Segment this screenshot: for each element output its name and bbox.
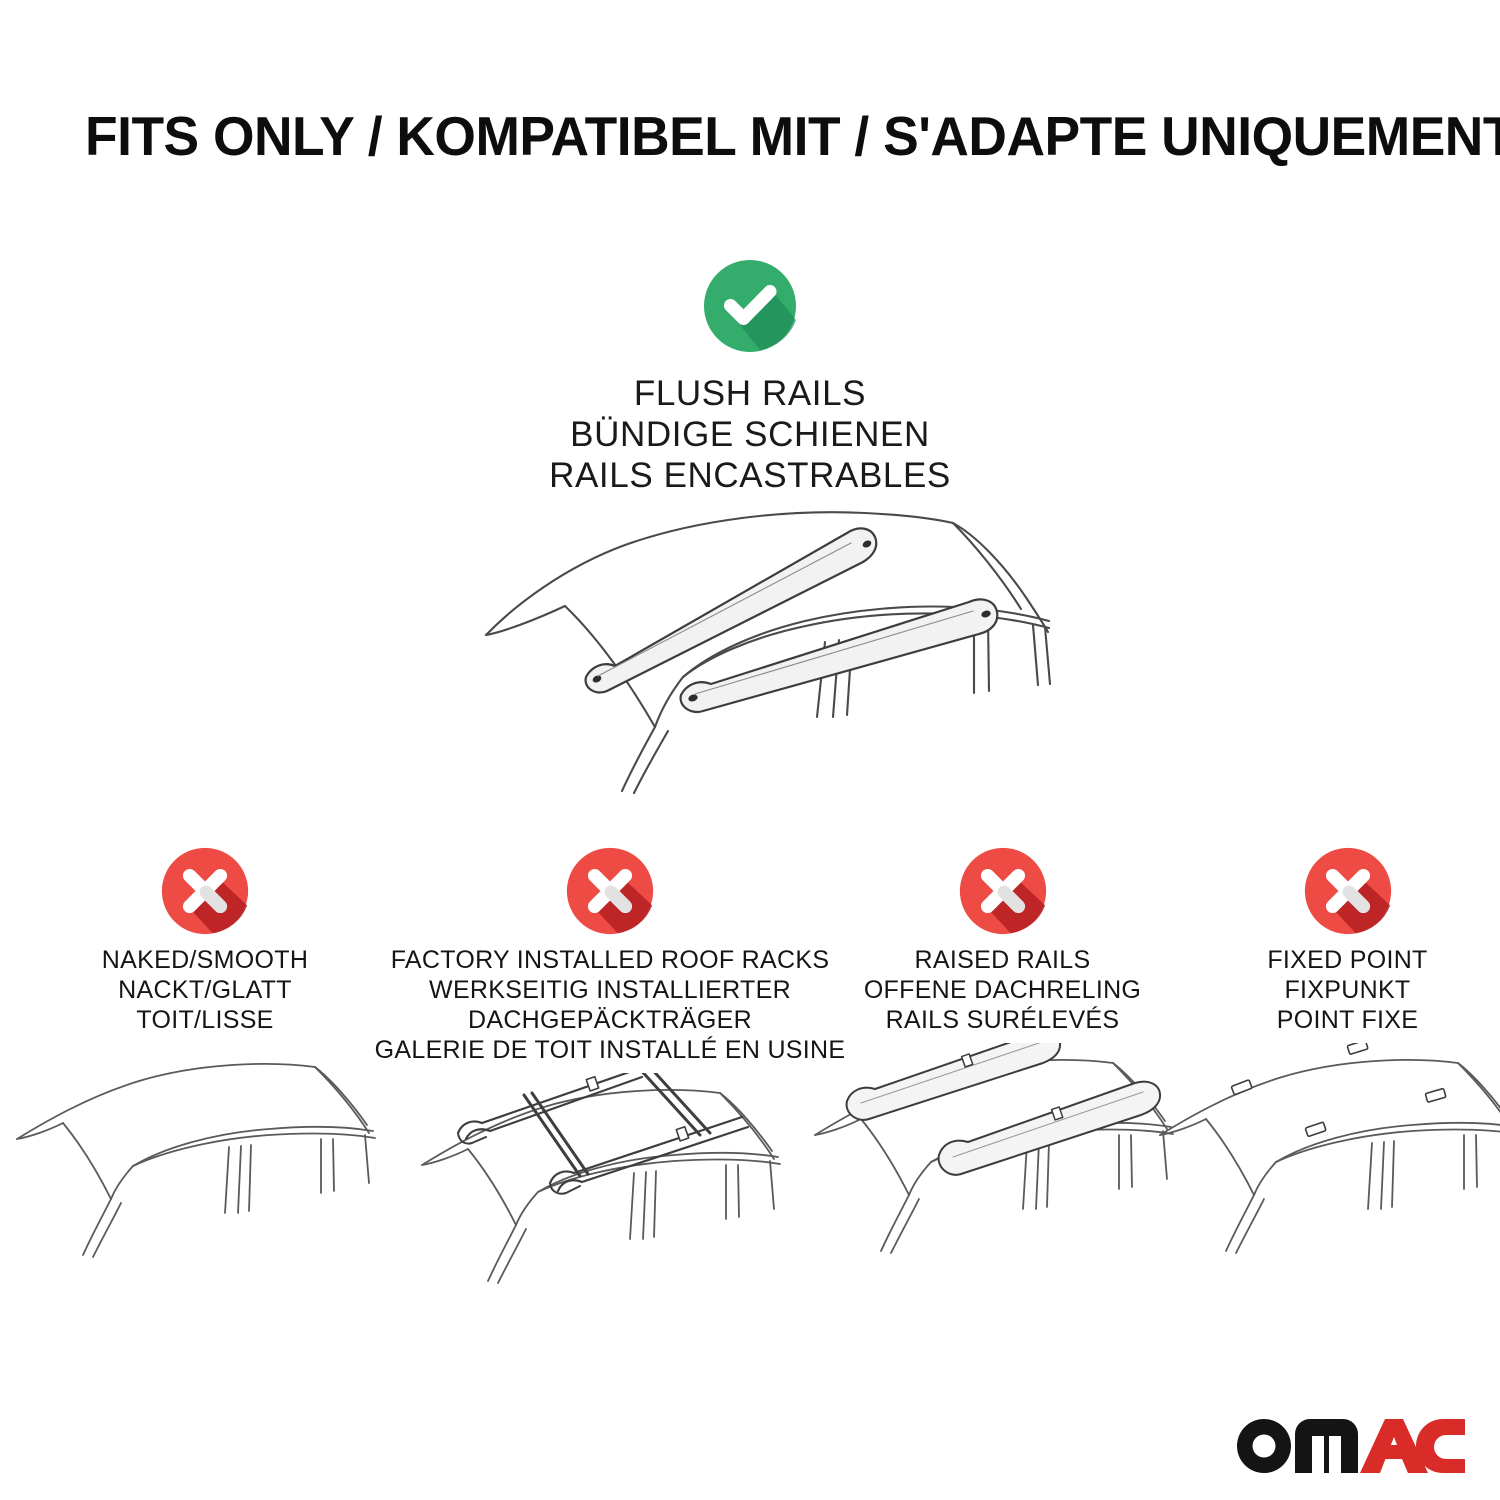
incompatible-item-raised-rails: RAISED RAILS OFFENE DACHRELING RAILS SUR… bbox=[810, 845, 1195, 1303]
label-line-2: WERKSEITIG INSTALLIERTER bbox=[375, 975, 846, 1005]
label-line-1: FACTORY INSTALLED ROOF RACKS bbox=[375, 945, 846, 975]
label-line-2: OFFENE DACHRELING bbox=[864, 975, 1141, 1005]
incompatible-item-fixed-point: FIXED POINT FIXPUNKT POINT FIXE bbox=[1195, 845, 1500, 1303]
car-roof-raised-rails-illustration bbox=[813, 1043, 1193, 1273]
label-line-3: TOIT/LISSE bbox=[102, 1005, 308, 1035]
compatible-label-line-1: FLUSH RAILS bbox=[0, 373, 1500, 414]
label-line-3: DACHGEPÄCKTRÄGER bbox=[375, 1005, 846, 1035]
label-line-1: RAISED RAILS bbox=[864, 945, 1141, 975]
incompatible-item-label: NAKED/SMOOTH NACKT/GLATT TOIT/LISSE bbox=[102, 945, 308, 1035]
red-cross-circle-icon bbox=[159, 845, 251, 937]
green-check-circle-icon bbox=[702, 258, 798, 354]
label-line-4: GALERIE DE TOIT INSTALLÉ EN USINE bbox=[375, 1035, 846, 1065]
car-roof-fixed-point-illustration bbox=[1158, 1043, 1500, 1273]
omac-logo bbox=[1233, 1409, 1465, 1475]
compatible-section: FLUSH RAILS BÜNDIGE SCHIENEN RAILS ENCAS… bbox=[0, 258, 1500, 496]
product-compatibility-infographic: FITS ONLY / KOMPATIBEL MIT / S'ADAPTE UN… bbox=[0, 0, 1500, 1500]
incompatible-item-label: FACTORY INSTALLED ROOF RACKS WERKSEITIG … bbox=[375, 945, 846, 1065]
label-line-2: FIXPUNKT bbox=[1267, 975, 1427, 1005]
red-cross-circle-icon bbox=[1302, 845, 1394, 937]
incompatible-item-naked-smooth: NAKED/SMOOTH NACKT/GLATT TOIT/LISSE bbox=[0, 845, 410, 1303]
label-line-3: POINT FIXE bbox=[1267, 1005, 1427, 1035]
incompatible-item-label: FIXED POINT FIXPUNKT POINT FIXE bbox=[1267, 945, 1427, 1035]
car-roof-flush-rails-illustration bbox=[455, 495, 1055, 795]
compatible-label-line-3: RAILS ENCASTRABLES bbox=[0, 455, 1500, 496]
car-roof-naked-smooth-illustration bbox=[15, 1043, 395, 1273]
compatible-label: FLUSH RAILS BÜNDIGE SCHIENEN RAILS ENCAS… bbox=[0, 373, 1500, 496]
red-cross-circle-icon bbox=[957, 845, 1049, 937]
red-cross-circle-icon bbox=[564, 845, 656, 937]
label-line-2: NACKT/GLATT bbox=[102, 975, 308, 1005]
compatible-label-line-2: BÜNDIGE SCHIENEN bbox=[0, 414, 1500, 455]
car-roof-factory-roof-racks-illustration bbox=[420, 1073, 800, 1303]
label-line-1: NAKED/SMOOTH bbox=[102, 945, 308, 975]
label-line-3: RAILS SURÉLEVÉS bbox=[864, 1005, 1141, 1035]
incompatible-item-factory-roof-racks: FACTORY INSTALLED ROOF RACKS WERKSEITIG … bbox=[410, 845, 810, 1303]
incompatible-item-label: RAISED RAILS OFFENE DACHRELING RAILS SUR… bbox=[864, 945, 1141, 1035]
label-line-1: FIXED POINT bbox=[1267, 945, 1427, 975]
page-title: FITS ONLY / KOMPATIBEL MIT / S'ADAPTE UN… bbox=[85, 108, 1385, 166]
incompatible-section: NAKED/SMOOTH NACKT/GLATT TOIT/LISSE bbox=[0, 845, 1500, 1303]
